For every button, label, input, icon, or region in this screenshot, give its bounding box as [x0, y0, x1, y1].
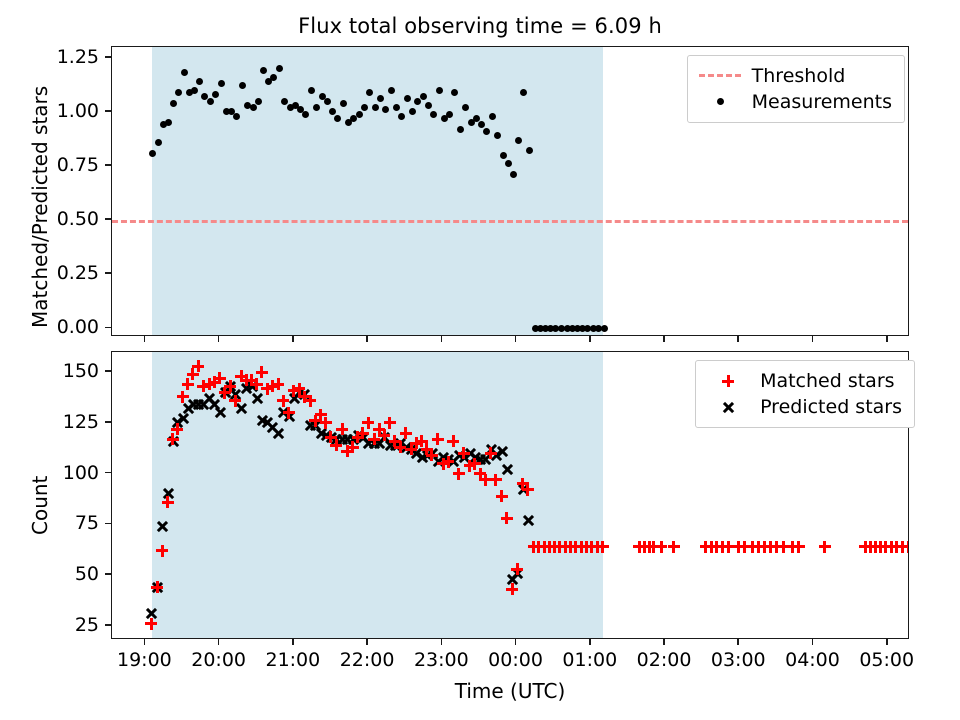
x-tick-label: 19:00 — [117, 649, 172, 671]
legend-label-measurements: Measurements — [752, 91, 892, 113]
threshold-dash-icon — [698, 65, 742, 87]
x-tick-mark — [218, 336, 220, 342]
measurement-point — [233, 113, 240, 120]
measurement-dot-icon — [698, 91, 742, 113]
x-tick-label: 04:00 — [785, 649, 840, 671]
x-tick-label: 21:00 — [265, 649, 320, 671]
ratio-legend: Threshold Measurements — [687, 55, 905, 123]
measurement-point — [324, 98, 331, 105]
y-tick-mark — [105, 523, 111, 525]
x-tick-mark — [812, 336, 814, 342]
x-tick-mark — [663, 639, 665, 645]
measurement-point — [393, 104, 400, 111]
measurement-point — [398, 113, 405, 120]
measurement-point — [255, 98, 262, 105]
x-tick-label: 20:00 — [191, 649, 246, 671]
x-tick-mark — [589, 336, 591, 342]
legend-label-matched: Matched stars — [760, 370, 894, 392]
y-tick-mark — [105, 272, 111, 274]
x-tick-mark — [366, 336, 368, 342]
measurement-point — [494, 132, 501, 139]
measurement-point — [436, 87, 443, 94]
legend-entry-matched[interactable]: Matched stars — [706, 368, 902, 394]
count-y-axis-label: Count — [28, 476, 52, 535]
x-tick-label: 01:00 — [562, 649, 617, 671]
measurement-point — [430, 111, 437, 118]
measurement-point — [446, 111, 453, 118]
y-tick-mark — [105, 472, 111, 474]
figure-root: Flux total observing time = 6.09 h 0.000… — [0, 0, 960, 720]
measurement-point — [191, 87, 198, 94]
y-tick-label: 150 — [0, 360, 99, 382]
x-tick-mark — [292, 639, 294, 645]
predicted-cross-icon — [706, 396, 750, 418]
y-tick-label: 125 — [0, 411, 99, 433]
x-tick-mark — [515, 639, 517, 645]
measurement-point — [462, 104, 469, 111]
measurement-point — [149, 150, 156, 157]
measurement-point — [489, 113, 496, 120]
x-tick-mark — [812, 639, 814, 645]
measurement-point — [250, 104, 257, 111]
y-tick-mark — [105, 327, 111, 329]
x-tick-mark — [737, 639, 739, 645]
y-tick-label: 50 — [0, 563, 99, 585]
measurement-point — [500, 152, 507, 159]
x-tick-mark — [218, 639, 220, 645]
x-tick-mark — [663, 336, 665, 342]
x-tick-mark — [144, 336, 146, 342]
measurement-point — [601, 325, 608, 332]
x-tick-label: 23:00 — [414, 649, 469, 671]
legend-entry-measurements[interactable]: Measurements — [698, 89, 892, 115]
x-tick-mark — [886, 336, 888, 342]
measurement-point — [207, 98, 214, 105]
measurement-point — [388, 87, 395, 94]
x-tick-mark — [366, 639, 368, 645]
measurement-point — [515, 137, 522, 144]
measurement-point — [361, 104, 368, 111]
y-tick-mark — [105, 573, 111, 575]
y-tick-mark — [105, 624, 111, 626]
y-tick-label: 1.25 — [0, 46, 99, 68]
measurement-point — [457, 126, 464, 133]
measurement-point — [308, 87, 315, 94]
figure-title: Flux total observing time = 6.09 h — [0, 14, 960, 38]
x-axis-label: Time (UTC) — [111, 679, 909, 703]
x-tick-mark — [589, 639, 591, 645]
measurement-point — [425, 102, 432, 109]
y-tick-mark — [105, 56, 111, 58]
x-tick-mark — [441, 336, 443, 342]
x-tick-label: 00:00 — [488, 649, 543, 671]
y-tick-mark — [105, 421, 111, 423]
x-tick-mark — [292, 336, 294, 342]
matched-plus-icon — [706, 370, 750, 392]
y-tick-mark — [105, 370, 111, 372]
legend-label-predicted: Predicted stars — [760, 396, 902, 418]
x-tick-mark — [737, 336, 739, 342]
shaded-observing-region-top — [152, 47, 604, 335]
legend-label-threshold: Threshold — [752, 65, 846, 87]
y-tick-mark — [105, 164, 111, 166]
measurement-point — [155, 139, 162, 146]
x-tick-label: 02:00 — [637, 649, 692, 671]
x-tick-label: 05:00 — [859, 649, 914, 671]
legend-entry-predicted[interactable]: Predicted stars — [706, 394, 902, 420]
x-tick-mark — [886, 639, 888, 645]
x-tick-label: 22:00 — [340, 649, 395, 671]
measurement-point — [170, 100, 177, 107]
measurement-point — [334, 115, 341, 122]
measurement-point — [302, 111, 309, 118]
measurement-point — [340, 100, 347, 107]
y-tick-mark — [105, 218, 111, 220]
measurement-point — [218, 80, 225, 87]
x-tick-mark — [441, 639, 443, 645]
measurement-point — [366, 89, 373, 96]
x-tick-mark — [515, 336, 517, 342]
legend-entry-threshold[interactable]: Threshold — [698, 63, 892, 89]
x-tick-label: 03:00 — [711, 649, 766, 671]
count-legend: Matched stars Predicted stars — [695, 360, 915, 428]
ratio-y-axis-label: Matched/Predicted stars — [28, 86, 52, 328]
threshold-line — [112, 220, 908, 223]
y-tick-mark — [105, 110, 111, 112]
measurement-point — [420, 93, 427, 100]
x-tick-mark — [144, 639, 146, 645]
y-tick-label: 25 — [0, 614, 99, 636]
measurement-point — [356, 111, 363, 118]
